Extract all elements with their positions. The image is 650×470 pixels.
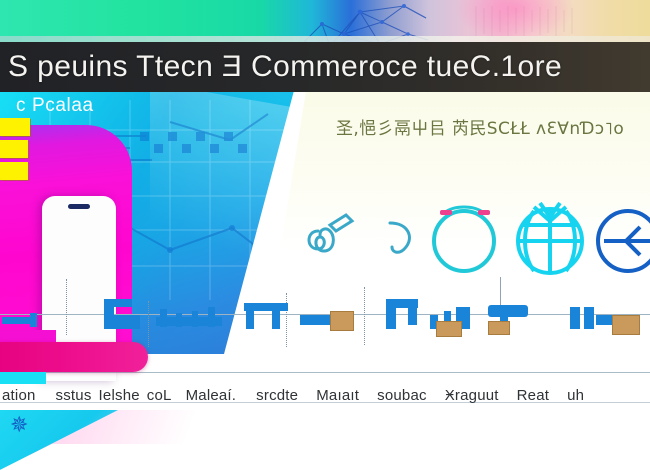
badge-stub-decor [0, 330, 56, 342]
legend-item-0[interactable]: ation [2, 387, 36, 404]
bar-segment [272, 309, 280, 329]
bar-segment [104, 299, 132, 307]
axis-tick [66, 279, 68, 335]
globe-grid-icon[interactable] [504, 197, 596, 279]
legend-row: ation sstus Ielshe coL Maleaí. srcdte Ma… [0, 383, 650, 407]
axis-tick [148, 301, 150, 347]
title-bar: S peuins Ttecn Ǝ Commeroce tueC.1ore [0, 42, 650, 92]
legend-item-10[interactable]: uh [567, 387, 584, 404]
hook-curve-icon[interactable] [380, 197, 426, 279]
axis-tick [364, 287, 366, 345]
legend-item-1[interactable]: sstus [56, 387, 92, 404]
marker-box [436, 321, 462, 337]
bar-segment [488, 305, 528, 317]
divider-line-2 [0, 372, 650, 373]
legend-item-6[interactable]: Maıaıt [316, 387, 359, 404]
faint-text-lines-decor [470, 2, 580, 40]
legend-item-4[interactable]: Maleaí. [186, 387, 237, 404]
star-burst-icon: ✵ [10, 414, 32, 436]
legend-item-2[interactable]: Ielshe [99, 387, 140, 404]
status-badge[interactable] [0, 342, 148, 372]
compass-circle-icon[interactable] [596, 197, 650, 279]
bar-segment [584, 307, 594, 329]
main-canvas: 圣,悒彡鬲屮㠯 芮民SCŁŁ ʌƐⱯnƊɔ˥o [0, 92, 650, 470]
bar-segment [108, 315, 140, 329]
bar-segment [192, 311, 198, 327]
icon-row [296, 197, 650, 279]
legend-item-9[interactable]: Reat [517, 387, 550, 404]
legend-item-8[interactable]: Ӿraguut [445, 387, 499, 404]
sidebar-tab-2[interactable] [0, 140, 28, 158]
legend-item-3[interactable]: coL [147, 387, 172, 404]
sidebar-tab-3[interactable] [0, 162, 28, 180]
status-badge-label: c Pcalaa [16, 95, 94, 117]
marker-box [612, 315, 640, 335]
scribble-loop-icon[interactable] [300, 197, 386, 279]
footer-white-area [0, 444, 650, 470]
phone-notch-icon [68, 204, 90, 209]
marker-box [488, 321, 510, 335]
axis-tick [286, 293, 288, 347]
bar-segment [570, 307, 580, 329]
marker-box [330, 311, 354, 331]
infographic-canvas: S peuins Ttecn Ǝ Commeroce tueC.1ore [0, 0, 650, 470]
bar-segment [408, 299, 417, 325]
legend-item-5[interactable]: srcdte [256, 387, 298, 404]
ring-marker-icon[interactable] [422, 197, 506, 279]
page-title: S peuins Ttecn Ǝ Commeroce tueC.1ore [0, 50, 562, 84]
top-decor-strip [0, 0, 650, 42]
content-card-heading: 圣,悒彡鬲屮㠯 芮民SCŁŁ ʌƐⱯnƊɔ˥o [336, 114, 646, 140]
bar-segment [160, 309, 167, 327]
bar-chart-glyph-row [0, 277, 650, 347]
legend-item-7[interactable]: soubac [377, 387, 427, 404]
bar-segment [208, 307, 215, 327]
bar-segment [176, 313, 182, 327]
bar-segment [30, 313, 37, 327]
sidebar-tab-1[interactable] [0, 118, 30, 136]
bar-segment [246, 303, 254, 329]
